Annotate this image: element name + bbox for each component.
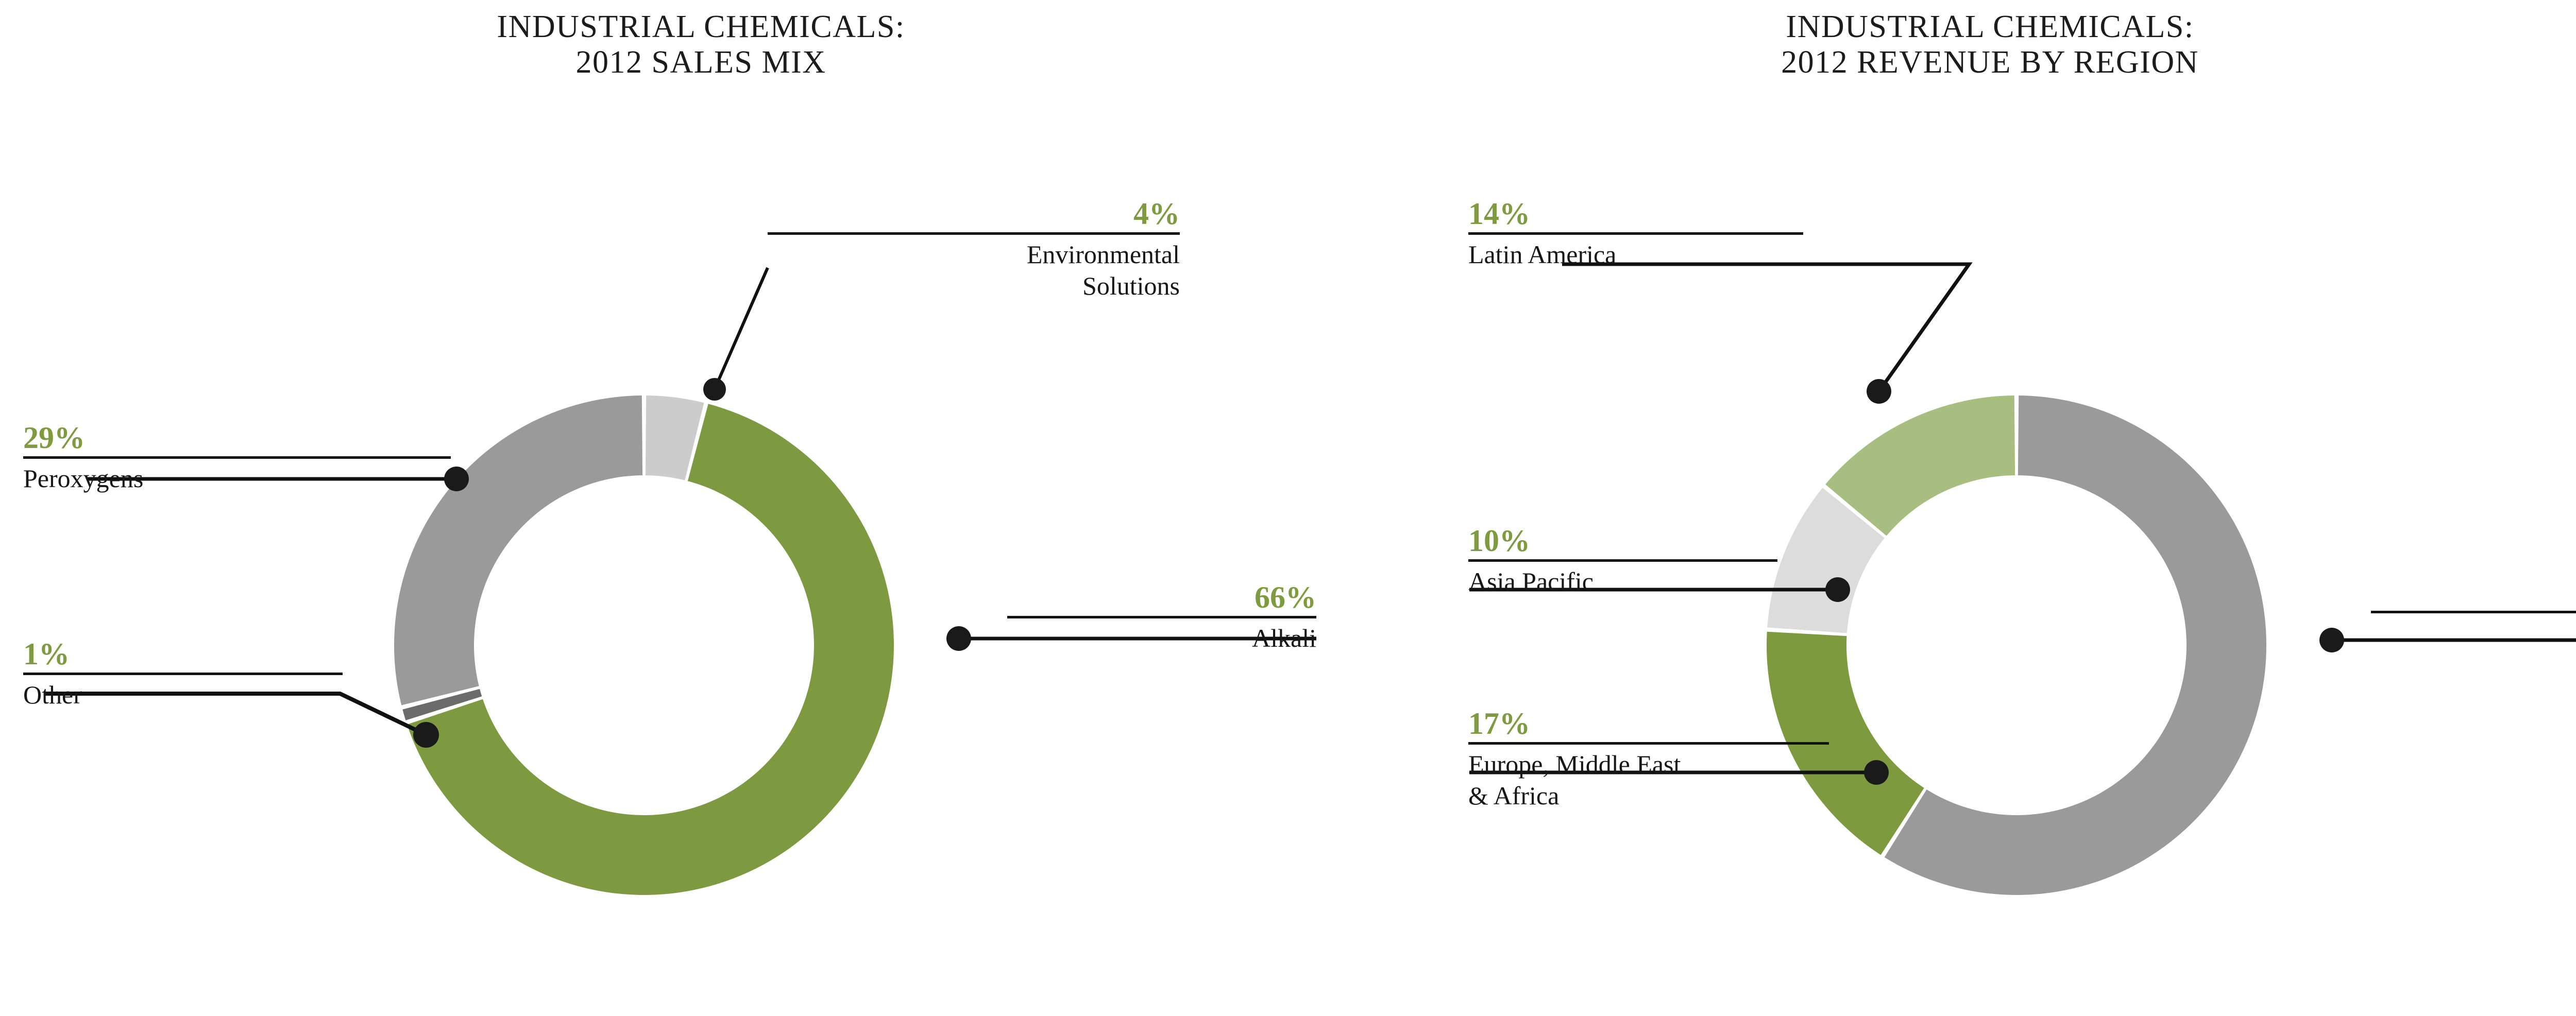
leader-dot-alkali bbox=[946, 626, 971, 651]
callout-percent-alkali: 66% bbox=[1007, 582, 1316, 616]
leader-line-environmental-solutions bbox=[715, 268, 768, 389]
leader-dot-other bbox=[413, 722, 439, 748]
leader-dot-emea bbox=[1864, 760, 1889, 785]
sales-mix-donut bbox=[0, 0, 1402, 1016]
revenue-by-region-donut bbox=[1402, 0, 2576, 1016]
callout-label-environmental-solutions-line1: Environmental bbox=[768, 239, 1180, 270]
revenue-by-region-chart-panel: INDUSTRIAL CHEMICALS: 2012 REVENUE BY RE… bbox=[1402, 0, 2576, 1016]
callout-other: 1% Other bbox=[23, 639, 343, 711]
callout-asia-pacific: 10% Asia Pacific bbox=[1468, 525, 1777, 597]
callout-label-north-america-line1: North America bbox=[2371, 617, 2576, 649]
leader-dot-asia-pacific bbox=[1825, 577, 1850, 602]
callout-label-peroxygens-line1: Peroxygens bbox=[23, 463, 451, 494]
sales-mix-chart-panel: INDUSTRIAL CHEMICALS: 2012 SALES MIX 4% bbox=[0, 0, 1402, 1016]
callout-label-emea-line1: Europe, Middle East bbox=[1468, 749, 1829, 780]
callout-latin-america: 14% Latin America bbox=[1468, 198, 1803, 270]
callout-label-emea-line2: & Africa bbox=[1468, 780, 1829, 812]
leader-dot-environmental-solutions bbox=[703, 378, 726, 401]
callout-north-america: 59% North America bbox=[2371, 577, 2576, 649]
callout-label-latin-america-line1: Latin America bbox=[1468, 239, 1803, 270]
callout-environmental-solutions: 4% Environmental Solutions bbox=[768, 198, 1180, 302]
callout-label-asia-pacific-line1: Asia Pacific bbox=[1468, 566, 1777, 597]
callout-label-other-line1: Other bbox=[23, 679, 343, 711]
callout-percent-peroxygens: 29% bbox=[23, 422, 451, 456]
callout-percent-emea: 17% bbox=[1468, 708, 1829, 742]
callout-peroxygens: 29% Peroxygens bbox=[23, 422, 451, 494]
callout-label-environmental-solutions-line2: Solutions bbox=[768, 270, 1180, 302]
callout-label-alkali-line1: Alkali bbox=[1007, 623, 1316, 654]
callout-percent-north-america: 59% bbox=[2371, 577, 2576, 611]
callout-emea: 17% Europe, Middle East & Africa bbox=[1468, 708, 1829, 812]
callout-alkali: 66% Alkali bbox=[1007, 582, 1316, 654]
callout-percent-environmental-solutions: 4% bbox=[768, 198, 1180, 232]
callout-percent-latin-america: 14% bbox=[1468, 198, 1803, 232]
leader-line-latin-america bbox=[1562, 264, 1969, 391]
leader-dot-latin-america bbox=[1867, 379, 1891, 404]
leader-dot-north-america bbox=[2319, 628, 2344, 652]
callout-percent-asia-pacific: 10% bbox=[1468, 525, 1777, 559]
callout-percent-other: 1% bbox=[23, 639, 343, 673]
